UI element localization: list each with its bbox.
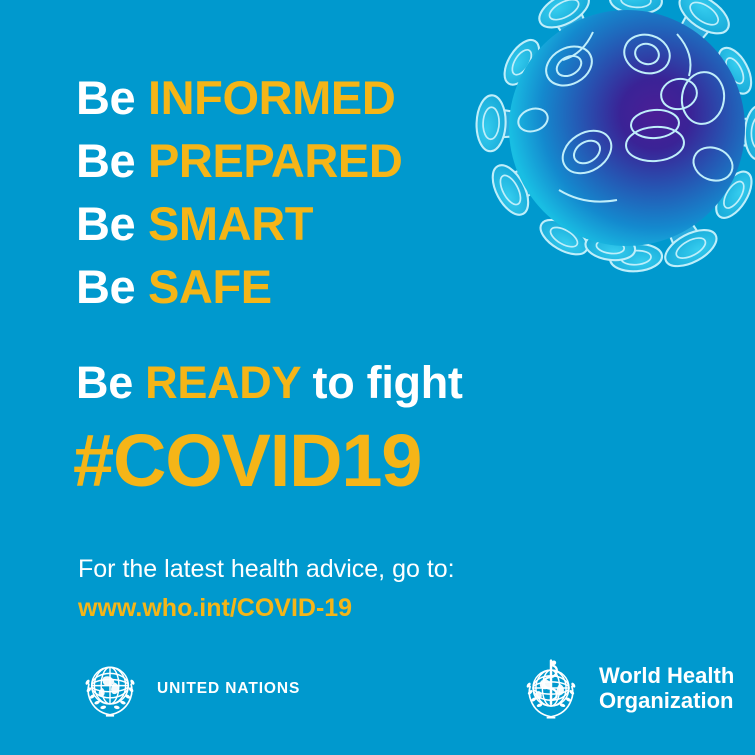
spike (601, 126, 663, 273)
spike (584, 125, 652, 264)
who-wordmark: World Health Organization (599, 663, 734, 713)
spike (626, 101, 755, 160)
slogan-keyword: SAFE (148, 260, 272, 313)
slogan-prefix: Be (76, 260, 148, 313)
united-nations-label: UNITED NATIONS (157, 680, 300, 698)
slogan-block: Be INFORMED Be PREPARED Be SMART Be SAFE (76, 66, 546, 318)
slogan-prefix: Be (76, 71, 148, 124)
slogan-keyword: PREPARED (148, 134, 402, 187)
spike (604, 0, 736, 144)
virus-surface-proteins (515, 29, 737, 201)
spike (534, 0, 651, 141)
slogan-line: Be SMART (76, 192, 546, 255)
who-label-line2: Organization (599, 688, 734, 713)
slogan-line: Be SAFE (76, 255, 546, 318)
poster-canvas: Be INFORMED Be PREPARED Be SMART Be SAFE… (0, 0, 755, 755)
spike (602, 115, 722, 274)
slogan-line: Be PREPARED (76, 129, 546, 192)
ready-headline: Be READY to fight (76, 355, 463, 411)
who-label-line1: World Health (599, 663, 734, 688)
slogan-keyword: INFORMED (148, 71, 395, 124)
advice-text: For the latest health advice, go to: (78, 553, 455, 585)
world-health-organization-logo: World Health Organization (515, 652, 734, 724)
spike (535, 115, 650, 261)
ready-suffix: to fight (300, 357, 462, 408)
spike (615, 43, 755, 151)
slogan-keyword: SMART (148, 197, 313, 250)
covid-hashtag: #COVID19 (73, 418, 421, 504)
united-nations-logo: UNITED NATIONS (76, 655, 300, 723)
spike (613, 106, 755, 224)
slogan-prefix: Be (76, 134, 148, 187)
who-website-url[interactable]: www.who.int/COVID-19 (78, 592, 352, 624)
ready-prefix: Be (76, 357, 145, 408)
slogan-prefix: Be (76, 197, 148, 250)
united-nations-emblem (76, 655, 144, 723)
world-health-organization-emblem (515, 652, 587, 724)
slogan-line: Be INFORMED (76, 66, 546, 129)
ready-keyword: READY (145, 357, 300, 408)
spike (601, 0, 663, 130)
